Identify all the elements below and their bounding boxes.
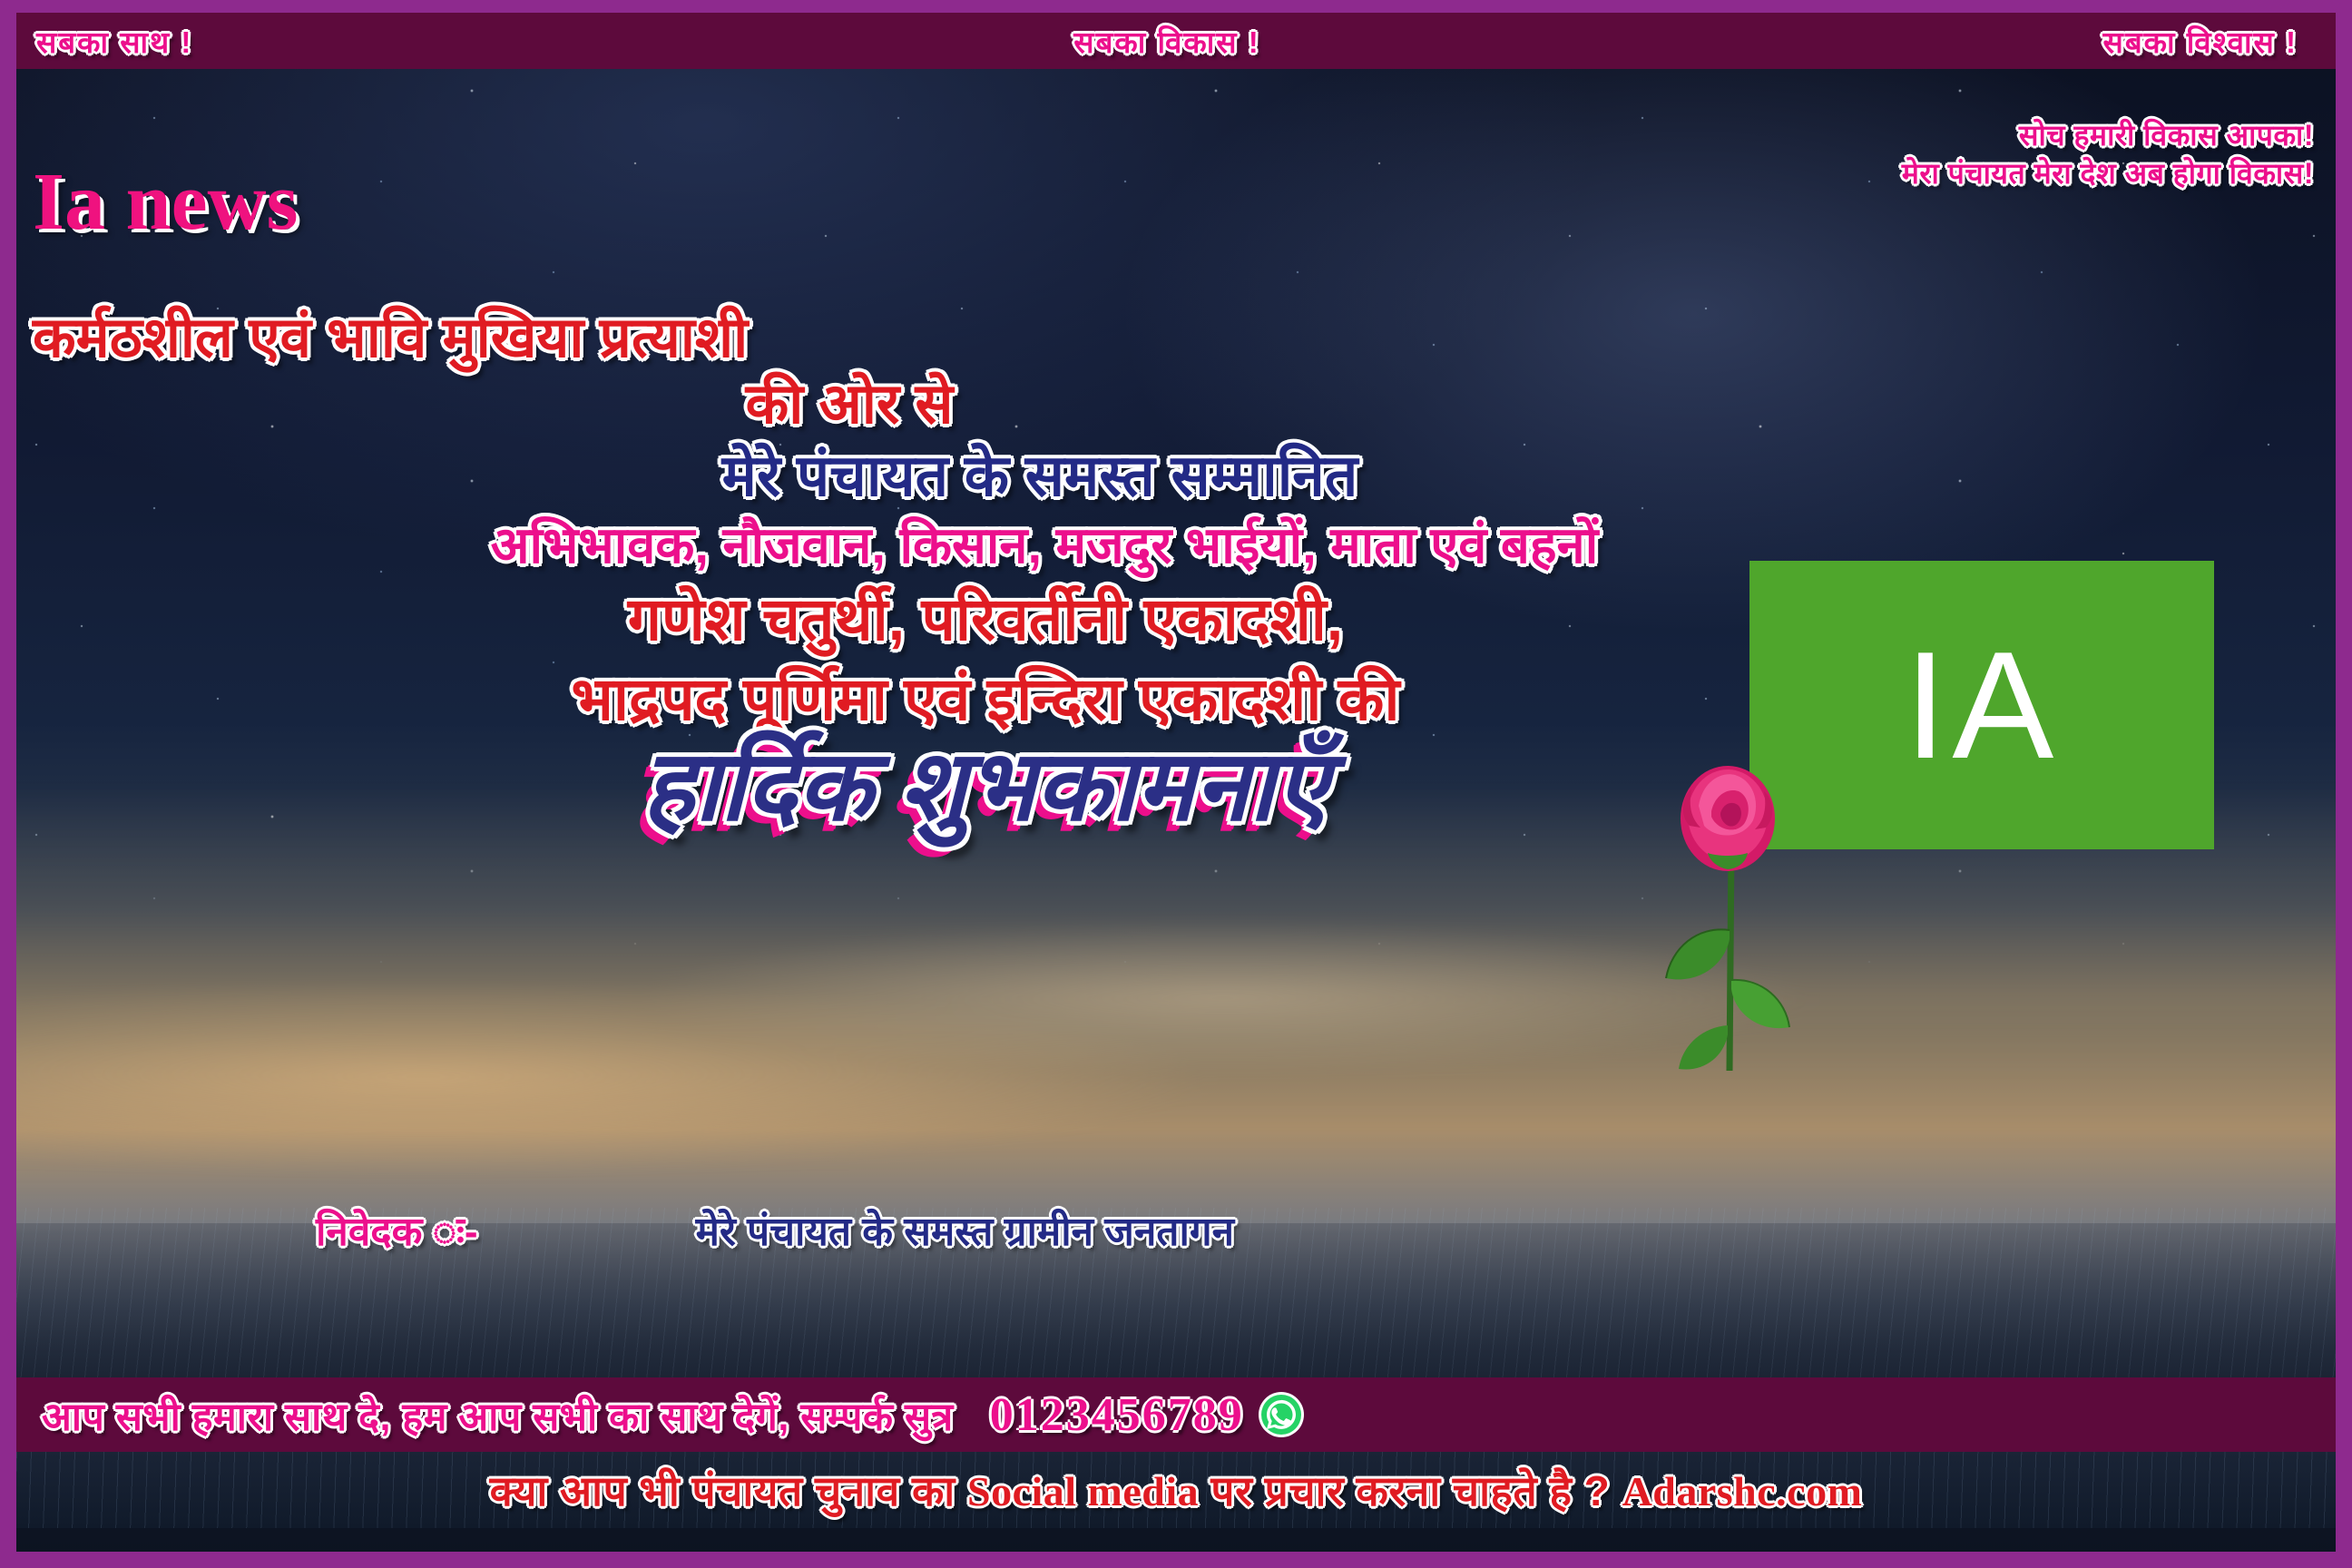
promo-prefix: क्या आप भी पंचायत चुनाव का [490, 1467, 967, 1514]
promo-social-media-label: Social media [967, 1468, 1199, 1514]
frame-right [2336, 0, 2352, 1568]
promo-website-link[interactable]: Adarshc.com [1622, 1468, 1863, 1514]
requester-row: निवेदक ः- मेरे पंचायत के समस्त ग्रामीन ज… [16, 1202, 2336, 1257]
frame-left [0, 0, 16, 1568]
slogan-sabka-vikas: सबका विकास ! [1073, 21, 1259, 62]
frame-bottom [0, 1552, 2352, 1568]
top-slogan-right-slot: सबका विश्वास ! [1543, 21, 2336, 62]
message-line-4: अभिभावक, नौजवान, किसान, मजदुर भाईयों, मा… [16, 518, 2336, 573]
promo-middle: पर प्रचार करना चाहते है ? [1199, 1467, 1622, 1514]
contact-message: आप सभी हमारा साथ दे, हम आप सभी का साथ दे… [42, 1388, 954, 1442]
frame-top [0, 0, 2352, 13]
contact-bar: आप सभी हमारा साथ दे, हम आप सभी का साथ दे… [16, 1377, 2336, 1452]
message-line-3: मेरे पंचायत के समस्त सम्मानित [16, 445, 2336, 507]
message-line-2: की ओर से [16, 375, 2336, 436]
greeting-headline: हार्दिक शुभकामनाएँ [16, 737, 2336, 835]
corner-slogan-line-1: सोच हमारी विकास आपका! [1902, 116, 2314, 154]
poster-canvas: सबका साथ ! सबका विकास ! सबका विश्वास ! I… [0, 0, 2352, 1568]
message-line-1: कर्मठशील एवं भावि मुखिया प्रत्याशी [16, 309, 2336, 369]
message-line-5: गणेश चतुर्थी, परिवर्तीनी एकादशी, [16, 587, 2336, 652]
main-message-block: कर्मठशील एवं भावि मुखिया प्रत्याशी की ओर… [16, 309, 2336, 835]
corner-slogan-block: सोच हमारी विकास आपका! मेरा पंचायत मेरा द… [1902, 116, 2314, 192]
contact-phone-number[interactable]: 0123456789 [990, 1388, 1244, 1442]
message-line-6: भाद्रपद पूर्णिमा एवं इन्दिरा एकादशी की [16, 667, 2336, 731]
promo-message: क्या आप भी पंचायत चुनाव का Social media … [490, 1462, 1863, 1518]
requester-label: निवेदक ः- [316, 1202, 478, 1257]
requester-name: मेरे पंचायत के समस्त ग्रामीन जनतागन [696, 1202, 1234, 1257]
brand-logo-text: Ia news [33, 162, 299, 243]
slogan-sabka-vishwas: सबका विश्वास ! [2103, 21, 2298, 62]
top-slogan-bar: सबका साथ ! सबका विकास ! सबका विश्वास ! [16, 13, 2336, 69]
slogan-sabka-saath: सबका साथ ! [36, 21, 192, 62]
top-slogan-left-slot: सबका साथ ! [16, 21, 790, 62]
promo-bar: क्या आप भी पंचायत चुनाव का Social media … [16, 1452, 2336, 1528]
corner-slogan-line-2: मेरा पंचायत मेरा देश अब होगा विकास! [1902, 154, 2314, 192]
top-slogan-center-slot: सबका विकास ! [790, 21, 1544, 62]
whatsapp-icon[interactable] [1257, 1390, 1306, 1439]
